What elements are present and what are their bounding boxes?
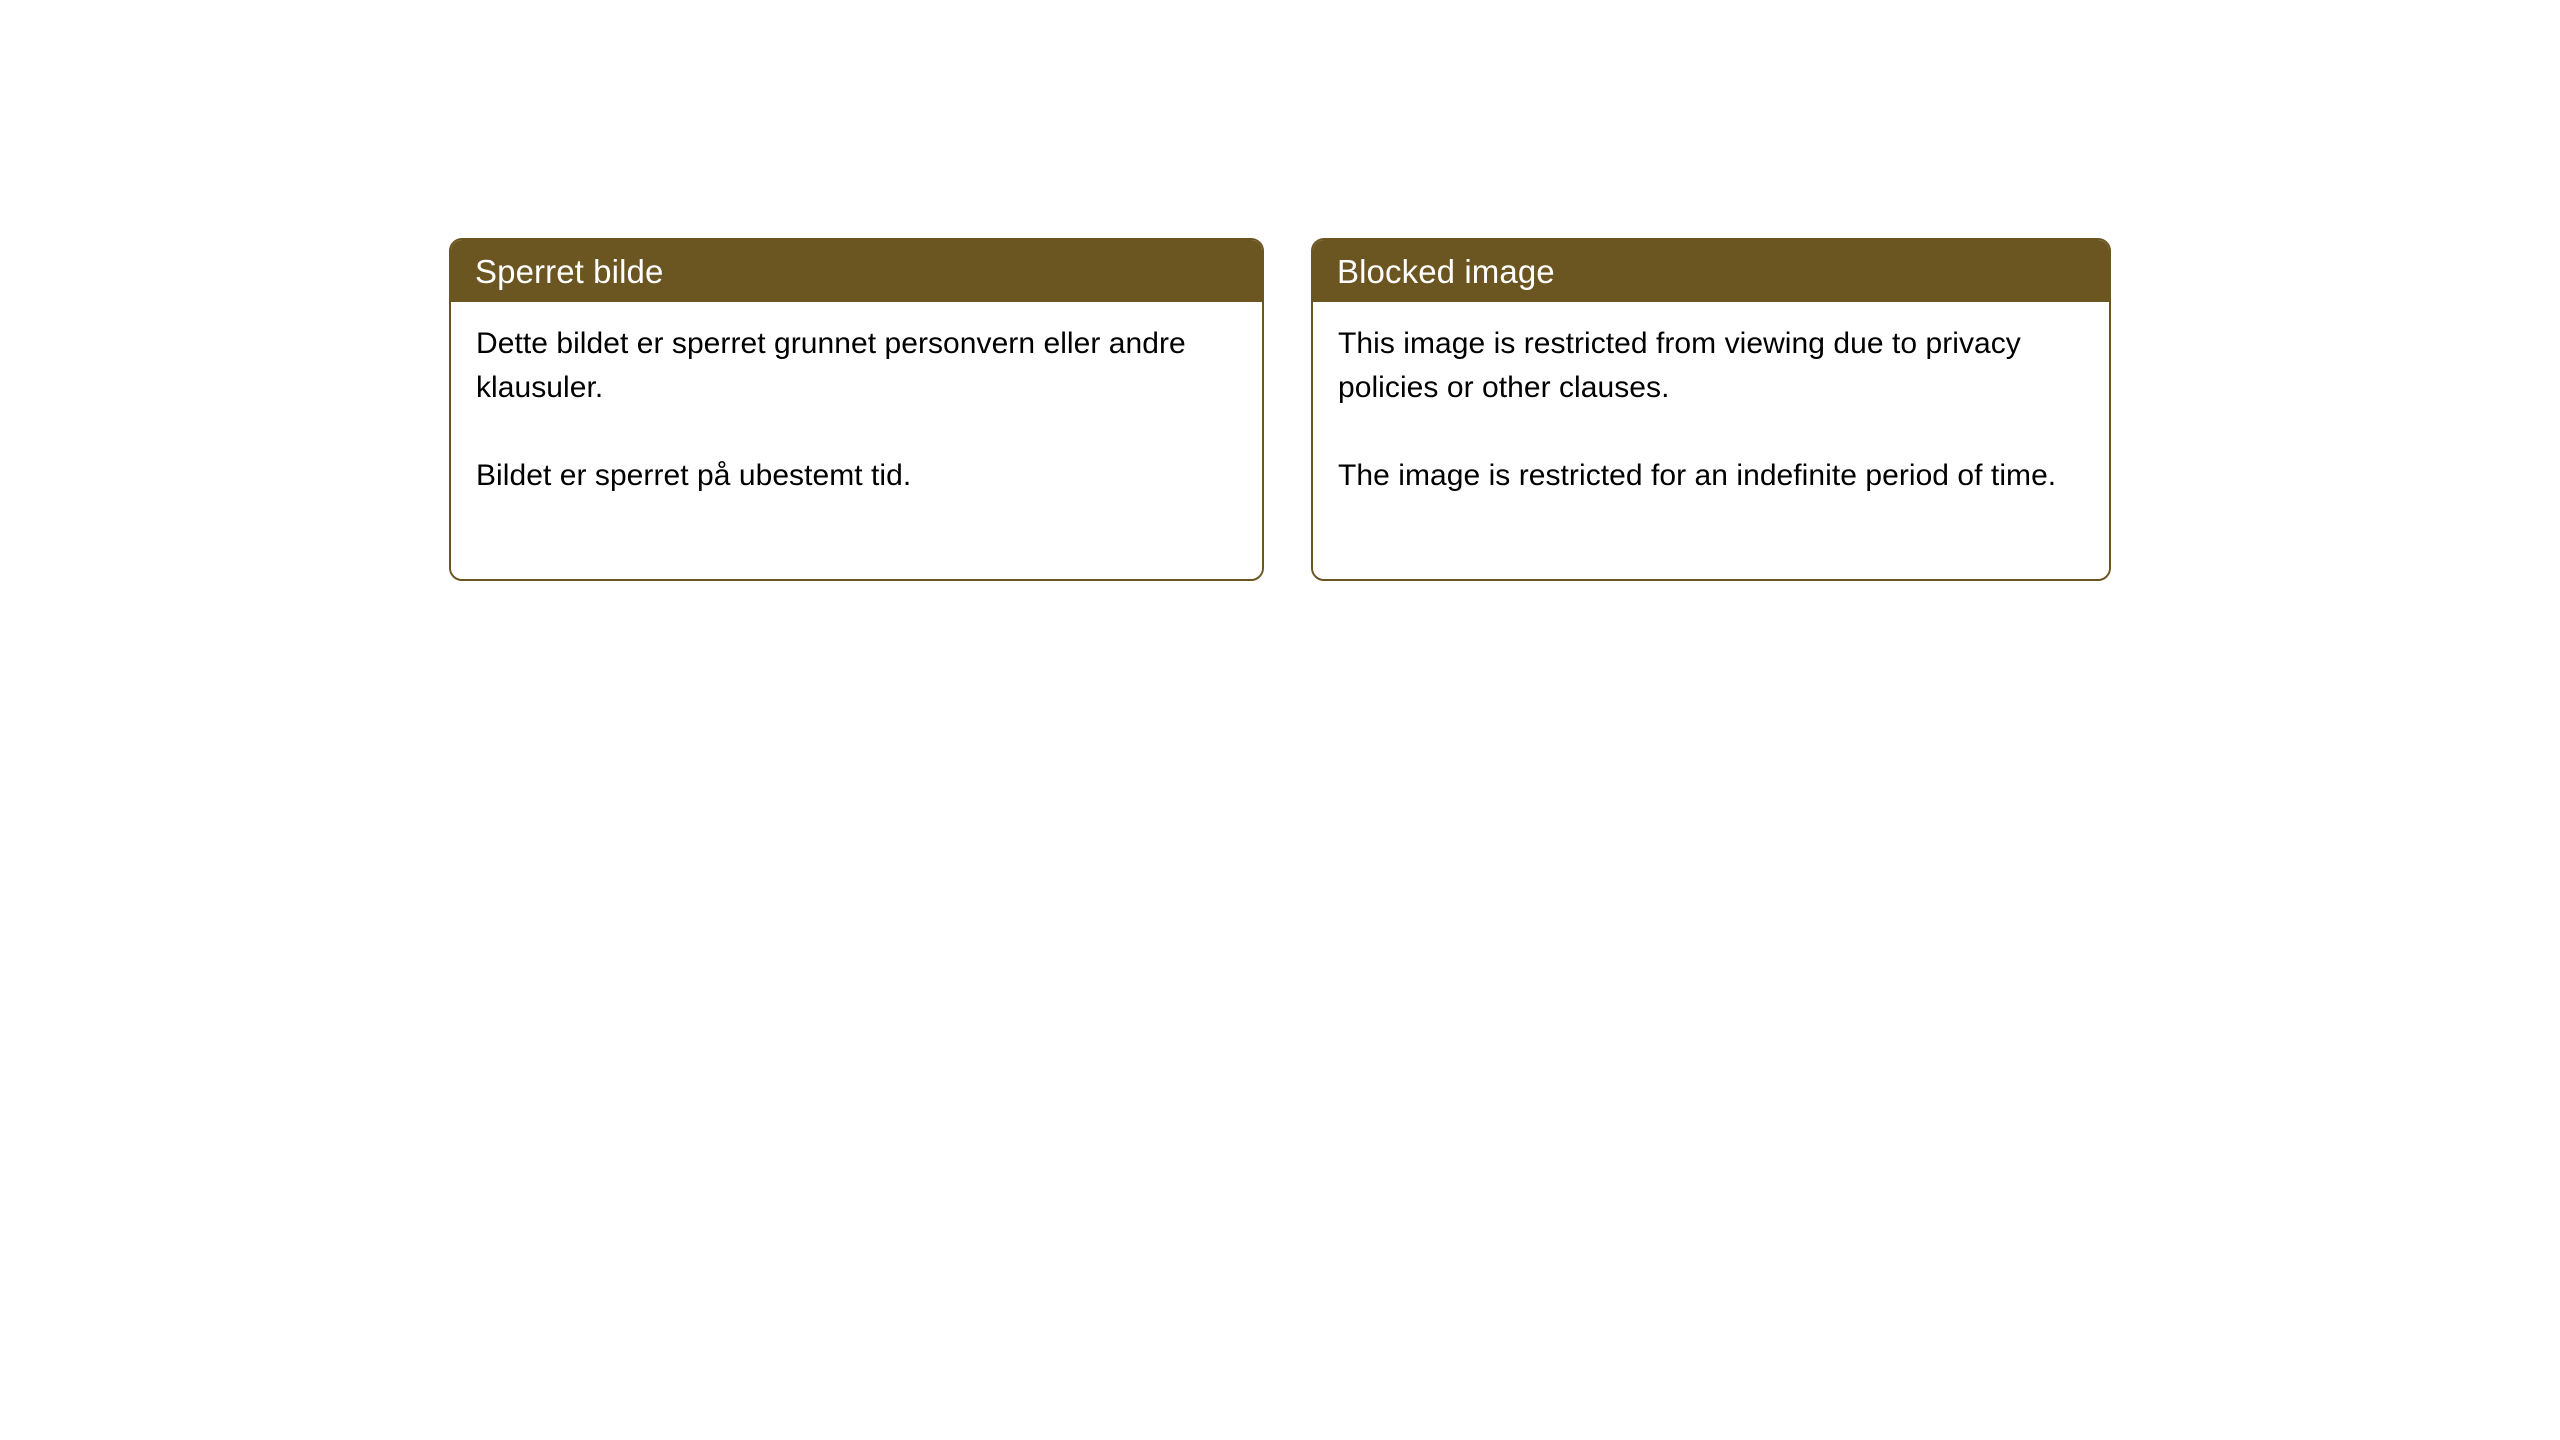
panel-paragraph-reason-norwegian: Dette bildet er sperret grunnet personve… xyxy=(476,322,1240,410)
panel-header-english: Blocked image xyxy=(1313,240,2109,302)
page-canvas: Sperret bilde Dette bildet er sperret gr… xyxy=(0,0,2560,1440)
blocked-image-notice-english: Blocked image This image is restricted f… xyxy=(1311,238,2111,581)
panel-body-norwegian: Dette bildet er sperret grunnet personve… xyxy=(451,302,1262,579)
panel-header-norwegian: Sperret bilde xyxy=(451,240,1262,302)
panel-title-norwegian: Sperret bilde xyxy=(475,255,663,288)
blocked-image-notice-norwegian: Sperret bilde Dette bildet er sperret gr… xyxy=(449,238,1264,581)
panel-paragraph-duration-english: The image is restricted for an indefinit… xyxy=(1338,454,2087,498)
panel-paragraph-duration-norwegian: Bildet er sperret på ubestemt tid. xyxy=(476,454,1240,498)
panel-title-english: Blocked image xyxy=(1337,255,1555,288)
panel-body-english: This image is restricted from viewing du… xyxy=(1313,302,2109,579)
panel-paragraph-reason-english: This image is restricted from viewing du… xyxy=(1338,322,2087,410)
